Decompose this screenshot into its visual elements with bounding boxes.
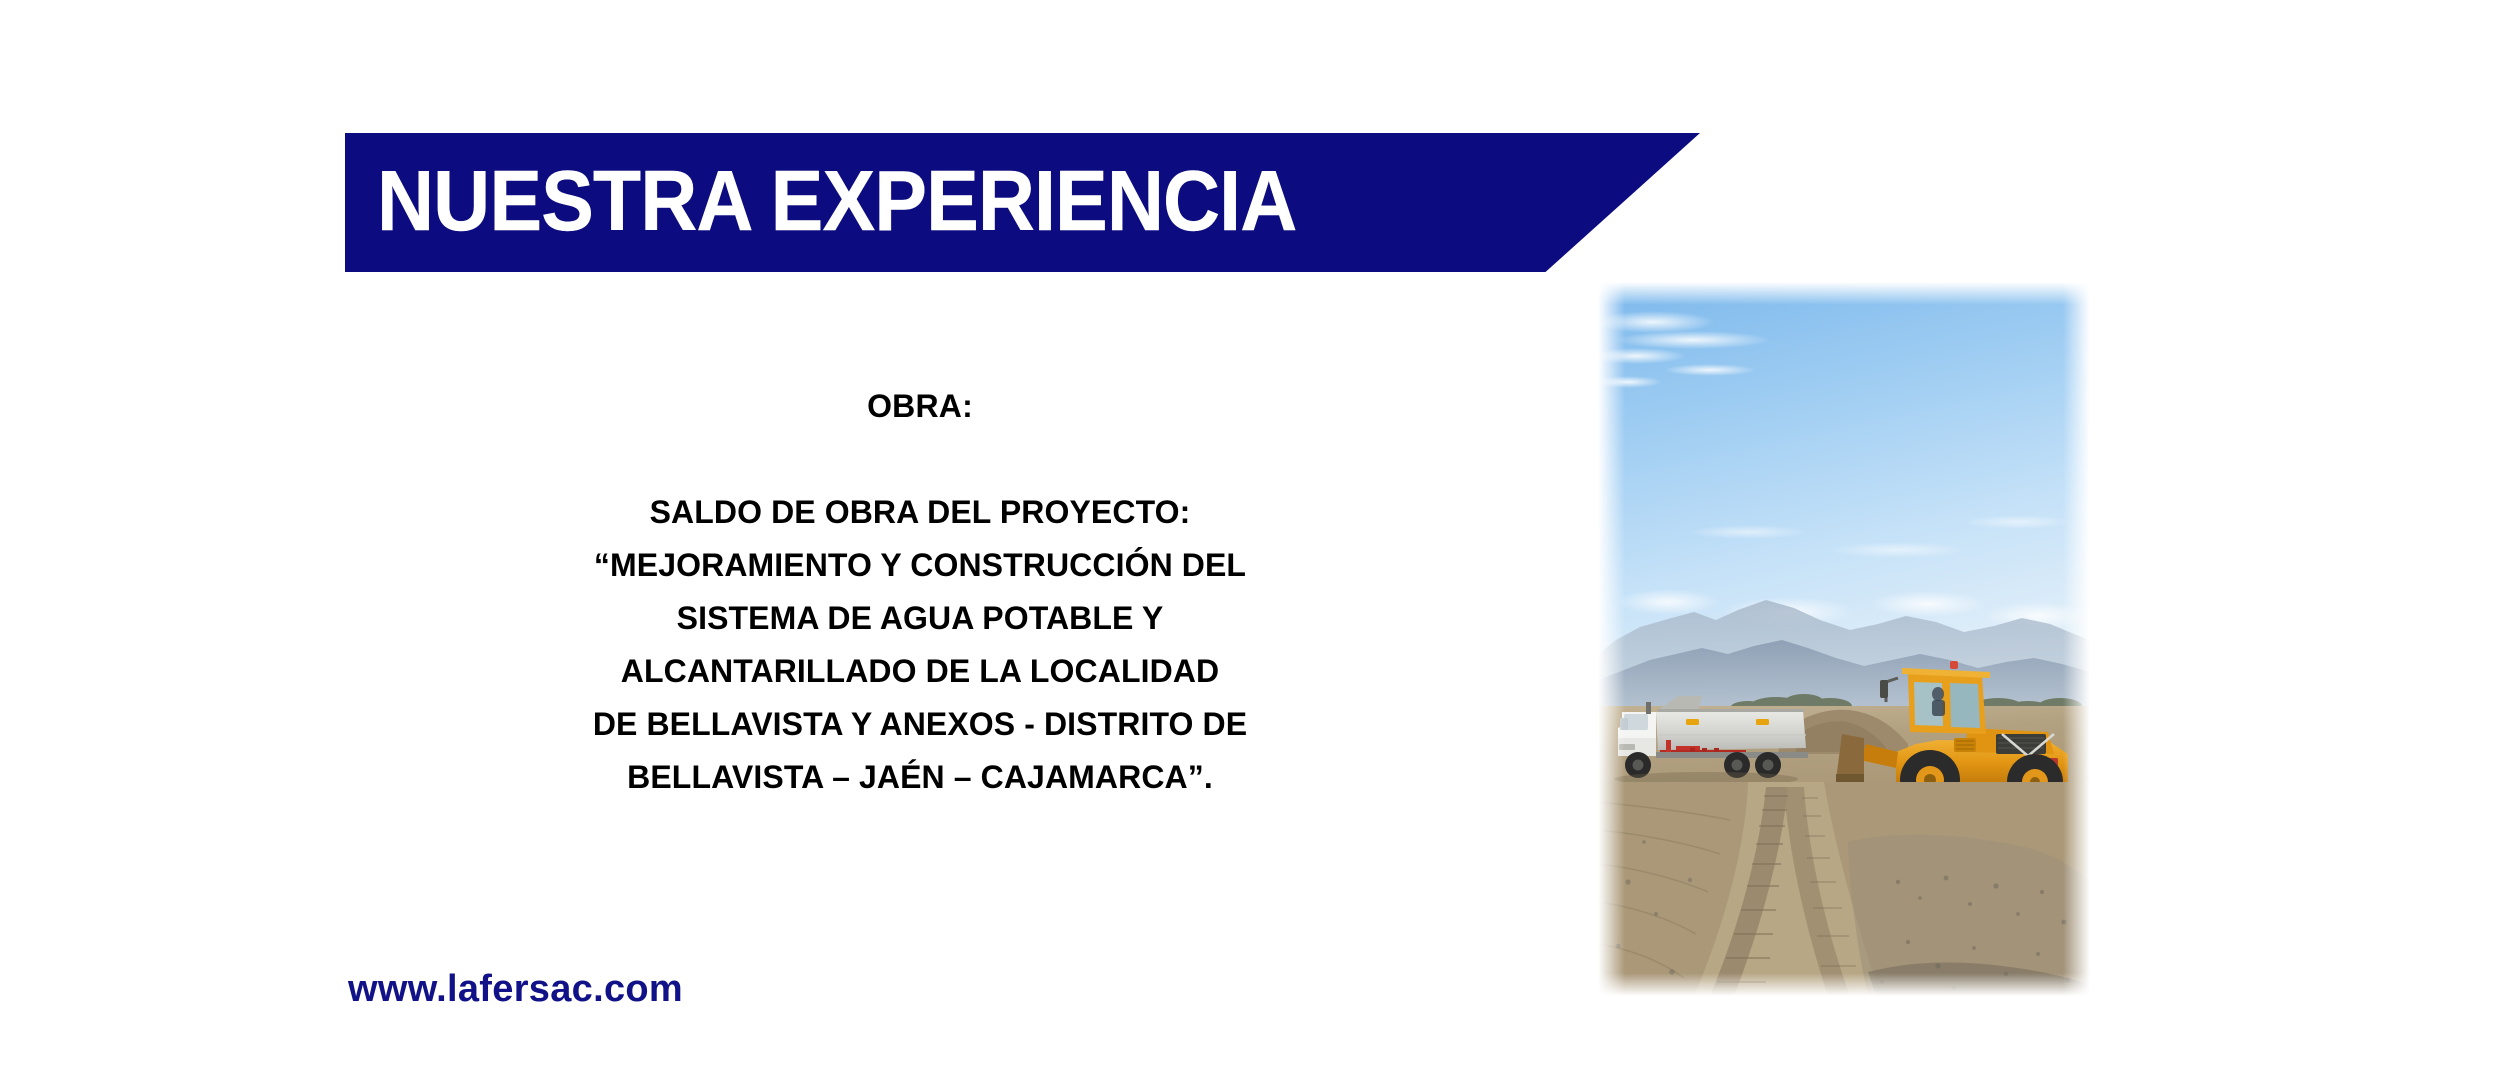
- obra-label: OBRA:: [440, 390, 1400, 424]
- project-description: SALDO DE OBRA DEL PROYECTO: “MEJORAMIENT…: [440, 486, 1400, 804]
- website-url-link[interactable]: www.lafersac.com: [348, 968, 683, 1011]
- project-text-block: OBRA: SALDO DE OBRA DEL PROYECTO: “MEJOR…: [440, 390, 1400, 804]
- project-line: “MEJORAMIENTO Y CONSTRUCCIÓN DEL: [440, 539, 1400, 592]
- project-line: ALCANTARILLADO DE LA LOCALIDAD: [440, 645, 1400, 698]
- project-line: SISTEMA DE AGUA POTABLE Y: [440, 592, 1400, 645]
- page-title: NUESTRA EXPERIENCIA: [377, 158, 1366, 243]
- construction-site-photo: [1598, 282, 2090, 996]
- text-spacer: [440, 424, 1400, 486]
- construction-site-photo-svg: [1598, 282, 2090, 996]
- construction-site-photo-image: [1598, 282, 2090, 996]
- section-header-banner: NUESTRA EXPERIENCIA: [345, 133, 1700, 272]
- project-line: BELLAVISTA – JAÉN – CAJAMARCA”.: [440, 751, 1400, 804]
- project-line: SALDO DE OBRA DEL PROYECTO:: [440, 486, 1400, 539]
- page-title-text: NUESTRA EXPERIENCIA: [377, 158, 1296, 243]
- project-line: DE BELLAVISTA Y ANEXOS - DISTRITO DE: [440, 698, 1400, 751]
- slide-canvas: NUESTRA EXPERIENCIA OBRA: SALDO DE OBRA …: [0, 0, 2500, 1083]
